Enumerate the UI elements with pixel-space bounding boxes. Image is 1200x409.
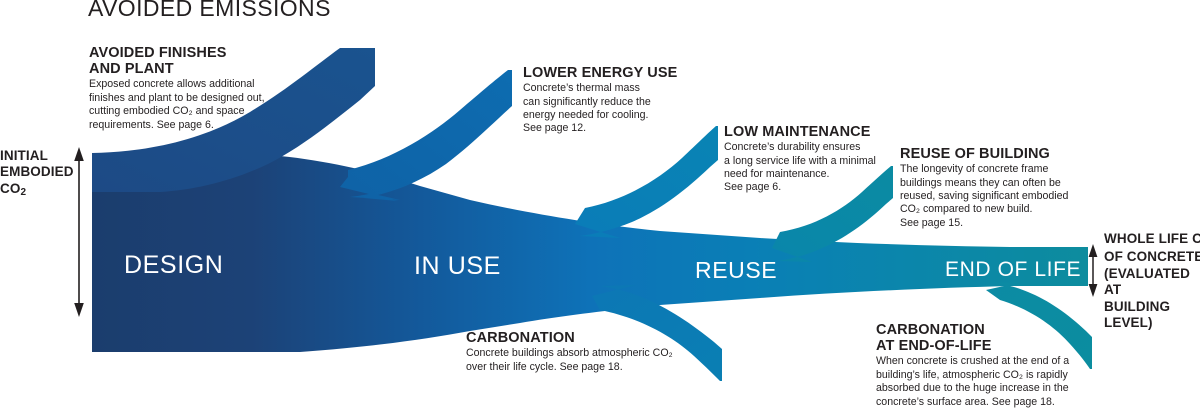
- initial-embodied-co2-line3: CO2: [0, 181, 76, 199]
- callout-carbonation: CARBONATION Concrete buildings absorb at…: [466, 330, 696, 374]
- stage-label-design: DESIGN: [124, 251, 223, 280]
- whole-life-co2-label: WHOLE LIFE CO2 OF CONCRETE (EVALUATED AT…: [1104, 231, 1200, 332]
- callout-reuse-of-building: REUSE OF BUILDING The longevity of concr…: [900, 146, 1100, 230]
- whole-life-co2-line3: (EVALUATED AT: [1104, 266, 1200, 299]
- callout-reuse-of-building-body: The longevity of concrete frame building…: [900, 163, 1100, 230]
- callout-carbonation-heading: CARBONATION: [466, 330, 696, 346]
- stage-label-in-use: IN USE: [414, 252, 501, 281]
- whole-life-co2-line1: WHOLE LIFE CO2: [1104, 231, 1200, 249]
- branch-low-maintenance: [575, 126, 718, 238]
- callout-avoided-finishes: AVOIDED FINISHES AND PLANT Exposed concr…: [89, 45, 289, 132]
- stage-label-reuse: REUSE: [695, 257, 777, 284]
- initial-embodied-co2-line2: EMBODIED: [0, 164, 76, 180]
- initial-embodied-co2-label: INITIAL EMBODIED CO2: [0, 148, 76, 199]
- callout-avoided-finishes-body: Exposed concrete allows additional finis…: [89, 78, 289, 131]
- infographic-canvas: AVOIDED EMISSIONS INITIAL EMBODIED CO2 W…: [0, 0, 1200, 409]
- callout-low-maintenance: LOW MAINTENANCE Concrete’s durability en…: [724, 124, 914, 195]
- diagram-title: AVOIDED EMISSIONS: [88, 0, 331, 20]
- initial-embodied-co2-line1: INITIAL: [0, 148, 76, 164]
- callout-reuse-of-building-heading: REUSE OF BUILDING: [900, 146, 1100, 162]
- whole-life-co2-line2: OF CONCRETE: [1104, 249, 1200, 265]
- callout-carbonation-end-of-life-body: When concrete is crushed at the end of a…: [876, 355, 1091, 408]
- callout-carbonation-end-of-life: CARBONATION AT END-OF-LIFE When concrete…: [876, 322, 1091, 409]
- callout-lower-energy-use: LOWER ENERGY USE Concrete’s thermal mass…: [523, 65, 713, 136]
- callout-low-maintenance-body: Concrete’s durability ensures a long ser…: [724, 141, 914, 194]
- stage-label-end-of-life: END OF LIFE: [945, 258, 1081, 282]
- callout-carbonation-body: Concrete buildings absorb atmospheric CO…: [466, 347, 696, 374]
- callout-avoided-finishes-heading: AVOIDED FINISHES AND PLANT: [89, 45, 289, 77]
- callout-low-maintenance-heading: LOW MAINTENANCE: [724, 124, 914, 140]
- callout-lower-energy-use-heading: LOWER ENERGY USE: [523, 65, 713, 81]
- callout-lower-energy-use-body: Concrete’s thermal mass can significantl…: [523, 82, 713, 135]
- whole-life-co2-line4: BUILDING LEVEL): [1104, 299, 1200, 332]
- callout-carbonation-end-of-life-heading: CARBONATION AT END-OF-LIFE: [876, 322, 1091, 354]
- whole-life-co2-arrow: [1089, 244, 1098, 297]
